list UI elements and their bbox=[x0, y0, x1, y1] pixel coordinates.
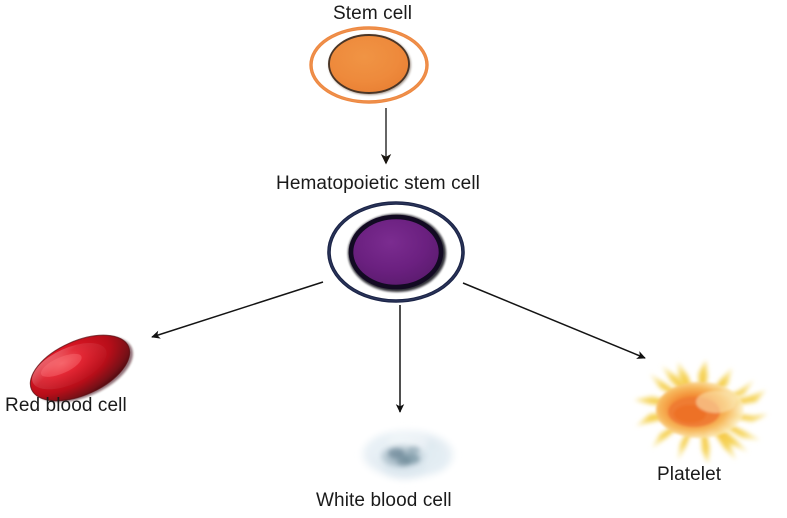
label-stem-cell: Stem cell bbox=[333, 4, 412, 23]
label-red-blood-cell: Red blood cell bbox=[5, 396, 127, 415]
label-platelet: Platelet bbox=[657, 465, 721, 484]
label-hematopoietic-stem-cell: Hematopoietic stem cell bbox=[276, 174, 480, 193]
diagram-canvas: Stem cell Hematopoietic stem cell Red bl… bbox=[0, 0, 787, 518]
platelet-icon bbox=[634, 360, 768, 464]
hematopoietic-stem-cell-icon bbox=[329, 203, 463, 301]
arrow-hsc-to-rbc bbox=[152, 282, 323, 337]
hematopoiesis-diagram bbox=[0, 0, 787, 518]
label-white-blood-cell: White blood cell bbox=[316, 491, 452, 510]
arrow-hsc-to-platelet bbox=[463, 283, 645, 358]
stem-cell-icon bbox=[311, 28, 427, 102]
white-blood-cell-icon bbox=[361, 430, 455, 480]
